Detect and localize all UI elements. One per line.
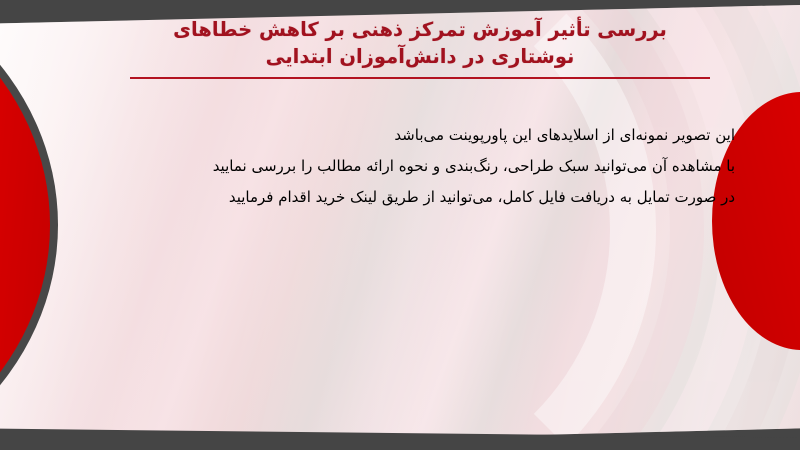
- title-underline: [130, 77, 710, 79]
- slide-canvas: بررسی تأثیر آموزش تمرکز ذهنی بر کاهش خطا…: [0, 0, 800, 450]
- slide-frame: بررسی تأثیر آموزش تمرکز ذهنی بر کاهش خطا…: [0, 0, 800, 450]
- slide-body-line-3: در صورت تمایل به دریافت فایل کامل، می‌تو…: [75, 182, 735, 213]
- slide-title: بررسی تأثیر آموزش تمرکز ذهنی بر کاهش خطا…: [120, 16, 720, 70]
- slide-body: این تصویر نمونه‌ای از اسلایدهای این پاور…: [75, 120, 735, 213]
- slide-body-line-2: با مشاهده آن می‌توانید سبک طراحی، رنگ‌بن…: [75, 151, 735, 182]
- slide-title-line-2: نوشتاری در دانش‌آموزان ابتدایی: [120, 43, 720, 70]
- slide-body-line-1: این تصویر نمونه‌ای از اسلایدهای این پاور…: [75, 120, 735, 151]
- red-lens-left: [0, 0, 50, 450]
- slide-title-line-1: بررسی تأثیر آموزش تمرکز ذهنی بر کاهش خطا…: [120, 16, 720, 43]
